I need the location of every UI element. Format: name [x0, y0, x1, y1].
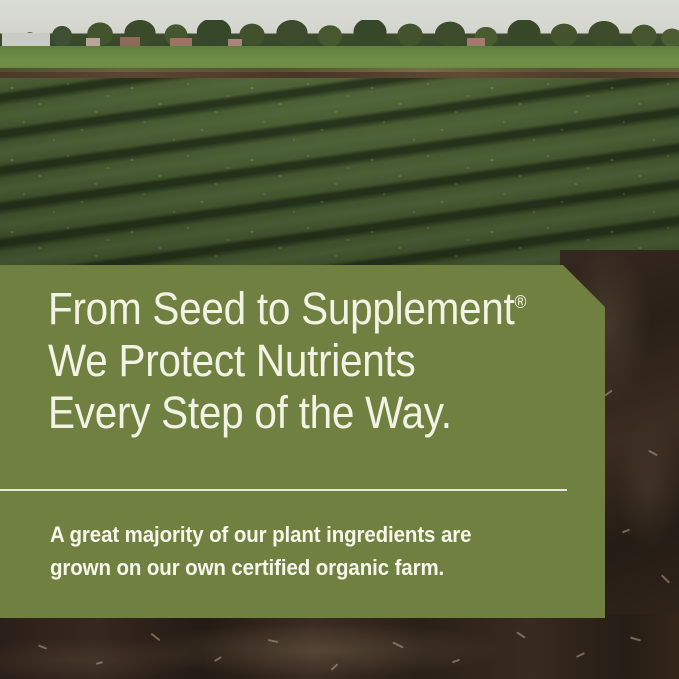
subhead-line-2: grown on our own certified organic farm. [50, 551, 552, 584]
farm-building-icon [86, 38, 100, 46]
subhead: A great majority of our plant ingredient… [50, 518, 552, 584]
headline-line-1-text: From Seed to Supplement [48, 283, 515, 334]
foreground-soil-bottom [0, 614, 679, 679]
headline: From Seed to Supplement® We Protect Nutr… [48, 283, 534, 439]
message-panel: From Seed to Supplement® We Protect Nutr… [0, 265, 605, 618]
promo-banner: From Seed to Supplement® We Protect Nutr… [0, 0, 679, 679]
farm-building-icon [120, 37, 140, 46]
headline-line-1: From Seed to Supplement® [48, 283, 534, 335]
grass-strip [0, 46, 679, 74]
farm-building-icon [228, 39, 242, 46]
subhead-line-1: A great majority of our plant ingredient… [50, 518, 552, 551]
registered-trademark-icon: ® [515, 292, 527, 312]
divider [0, 489, 567, 491]
headline-line-3: Every Step of the Way. [48, 387, 534, 439]
headline-line-2: We Protect Nutrients [48, 335, 534, 387]
farm-building-icon [170, 38, 192, 46]
farm-building-icon [467, 38, 485, 46]
farm-building-icon [2, 33, 50, 46]
